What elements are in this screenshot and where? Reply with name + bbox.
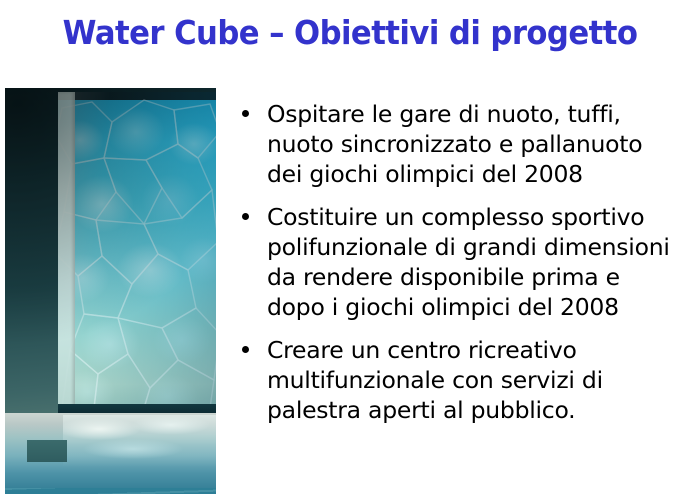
water-cube-building-photo <box>5 88 216 494</box>
bullet-point-icon <box>242 110 249 117</box>
list-item-text: Ospitare le gare di nuoto, tuffi, nuoto … <box>267 99 692 189</box>
photo-vignette <box>5 88 216 494</box>
bullet-point-icon <box>242 346 249 353</box>
bullet-point-icon <box>242 213 249 220</box>
bullet-list: Ospitare le gare di nuoto, tuffi, nuoto … <box>240 99 692 425</box>
list-item: Creare un centro ricreativo multifunzion… <box>240 335 692 425</box>
slide-canvas: Water Cube – Obiettivi di progetto <box>0 0 700 494</box>
list-item: Ospitare le gare di nuoto, tuffi, nuoto … <box>240 99 692 189</box>
list-item-text: Costituire un complesso sportivo polifun… <box>267 202 692 322</box>
page-title: Water Cube – Obiettivi di progetto <box>25 14 676 52</box>
list-item: Costituire un complesso sportivo polifun… <box>240 202 692 322</box>
list-item-text: Creare un centro ricreativo multifunzion… <box>267 335 692 425</box>
